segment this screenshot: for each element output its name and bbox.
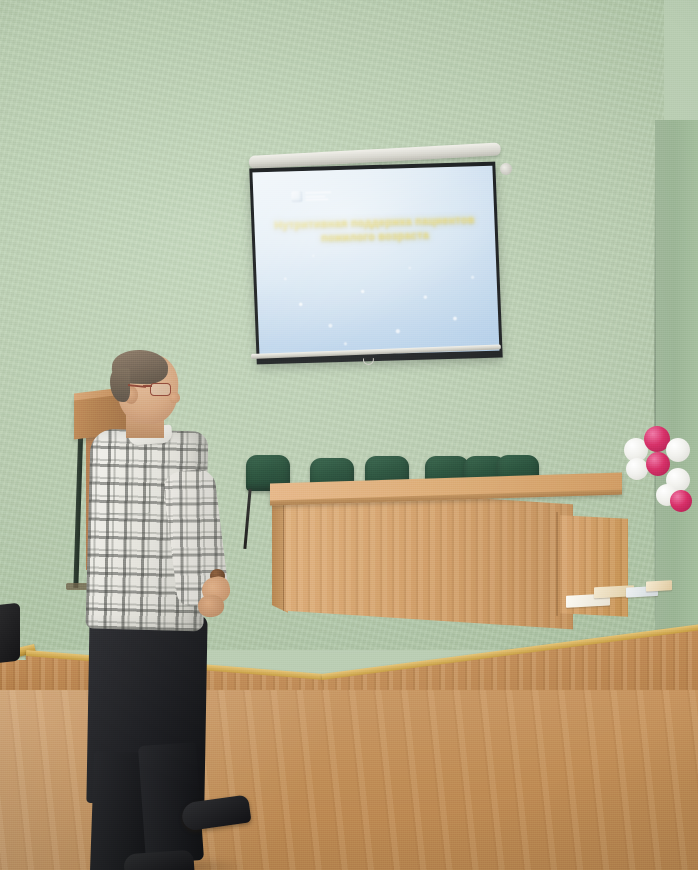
equipment-case [0,603,20,664]
wall-corner-line [654,150,656,620]
screen-glare [252,166,499,358]
glasses-lens-icon [150,383,171,396]
presenter [86,352,266,870]
presenter-hand-lower [197,594,225,619]
balloon-white-2 [666,438,690,462]
balloon-pink-2 [646,452,670,476]
balloon-pink-3 [670,490,692,512]
right-wall [655,120,698,640]
screen-surface: Нутритивная поддержка пациентов пожилого… [252,166,499,358]
screen-pull-handle-icon[interactable] [363,358,374,365]
balloon-cluster [622,424,696,524]
presenter-nose [170,392,180,403]
balloon-white-3 [626,458,648,480]
projection-screen[interactable]: Нутритивная поддержка пациентов пожилого… [247,155,509,370]
presenter-shirt-pocket [108,484,150,514]
screen-frame: Нутритивная поддержка пациентов пожилого… [249,162,502,365]
glasses-bridge-icon [143,385,152,387]
handout-4[interactable] [646,580,672,591]
photo-scene: Нутритивная поддержка пациентов пожилого… [0,0,698,870]
